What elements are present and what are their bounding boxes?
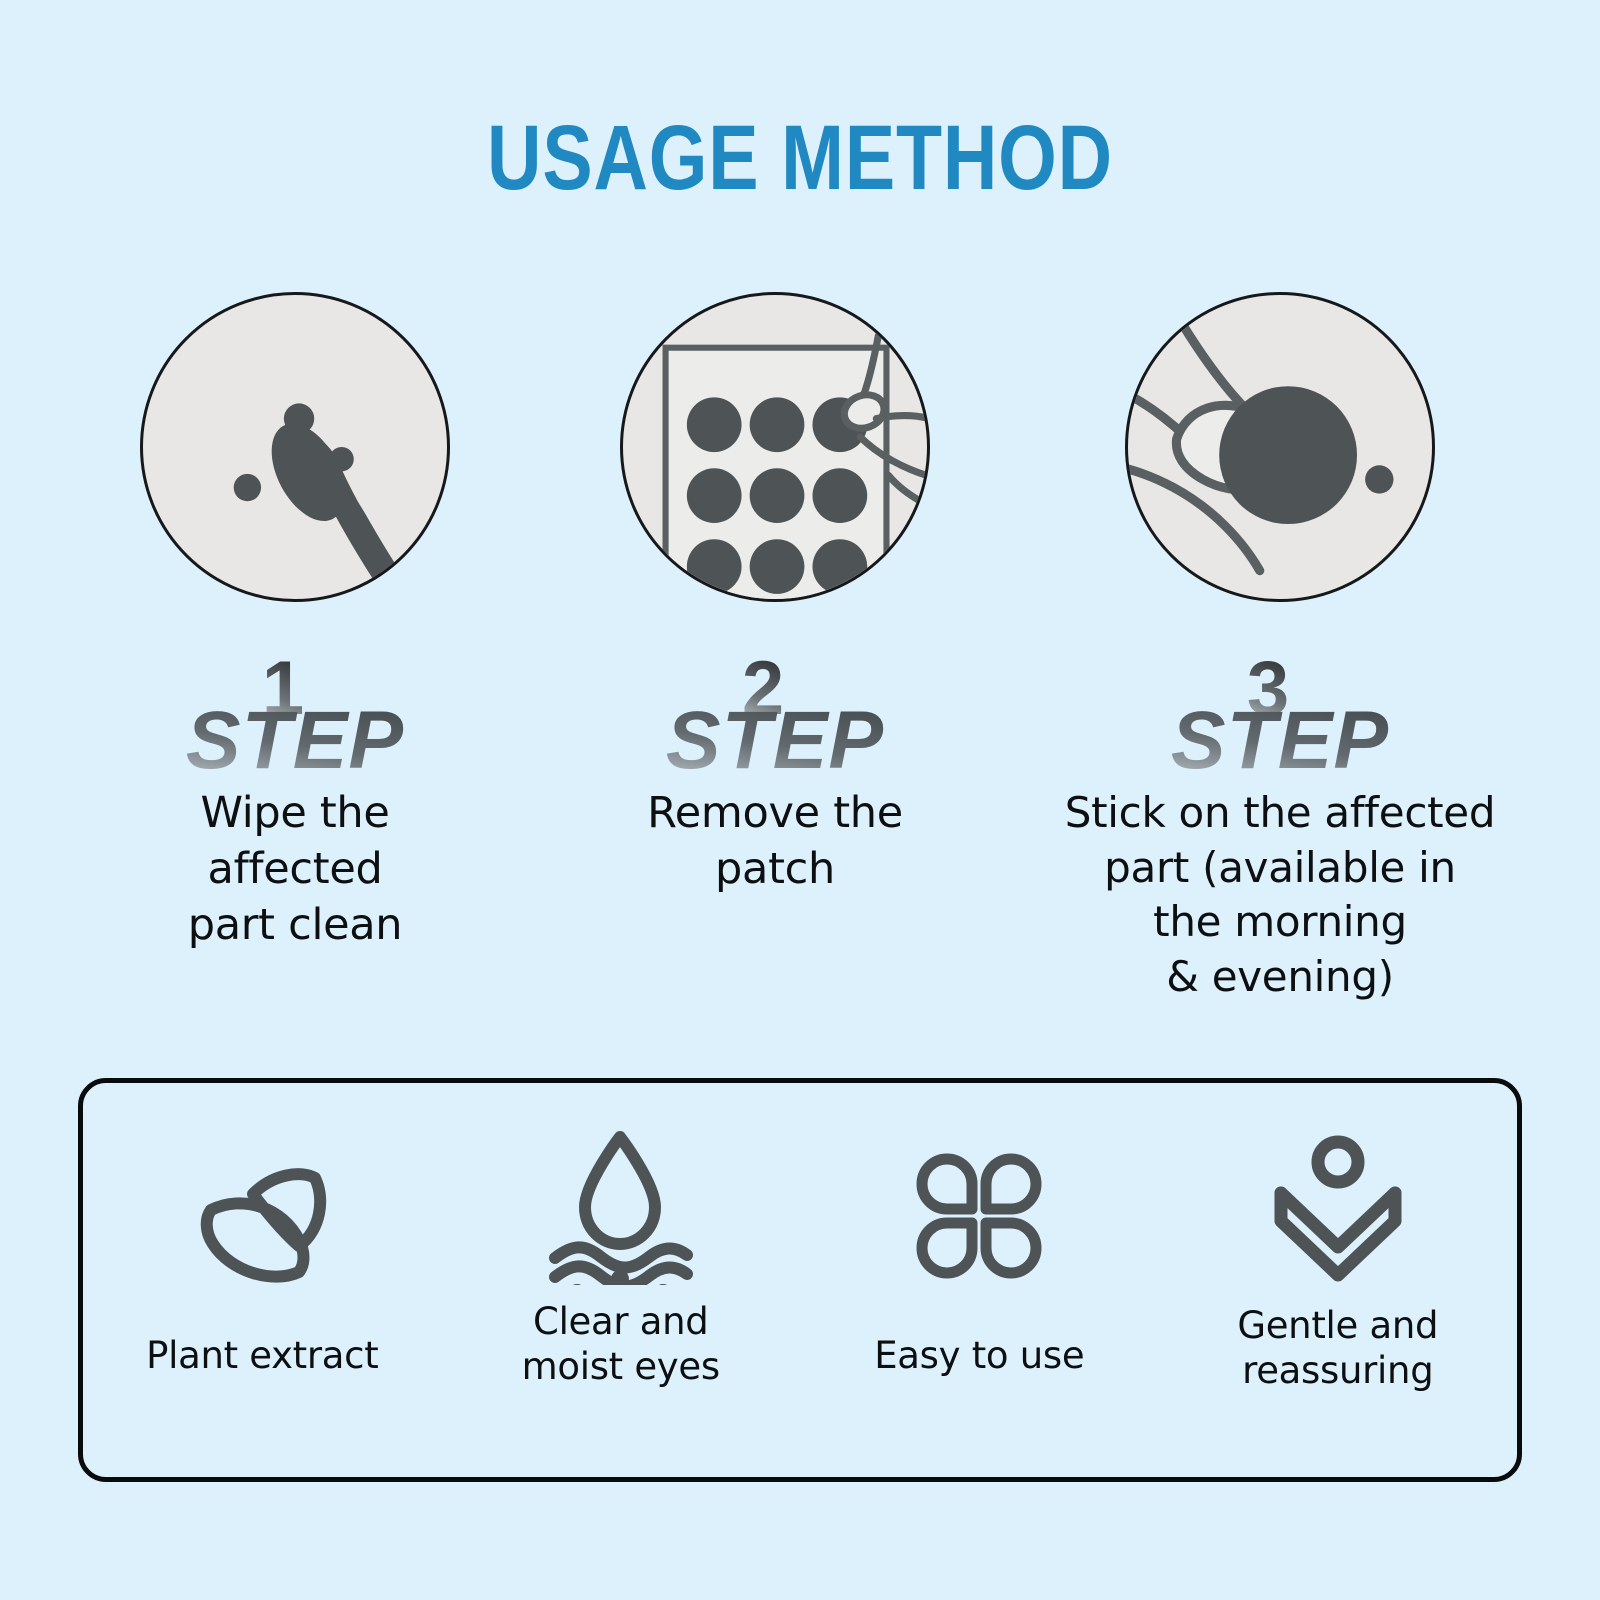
step-2-illustration [540, 292, 1010, 602]
feature-icon-wrap [187, 1135, 337, 1305]
feature-label: Gentle and reassuring [1237, 1303, 1438, 1393]
water-drop-waves-icon [543, 1127, 698, 1285]
four-petal-icon [909, 1146, 1049, 1286]
step-3-wordmark: 3 STEP [1020, 650, 1540, 780]
feature-icon-wrap [1263, 1125, 1413, 1295]
steps-row: 1 STEP Wipe the affected part clean [0, 292, 1600, 1004]
patch-sheet-peel-icon [623, 295, 927, 599]
step-3-illustration [1020, 292, 1540, 602]
infographic-page: USAGE METHOD [0, 0, 1600, 1600]
step-2-circle [620, 292, 930, 602]
feature-item-clear-moist-eyes: Clear and moist eyes [442, 1083, 801, 1389]
step-word: STEP [186, 695, 404, 780]
step-1-wordmark: 1 STEP [60, 650, 530, 780]
feature-item-gentle-reassuring: Gentle and reassuring [1159, 1083, 1518, 1393]
feature-label: Easy to use [874, 1333, 1084, 1378]
leaf-icon [187, 1154, 337, 1286]
feature-label: Plant extract [146, 1333, 378, 1378]
step-1-illustration [60, 292, 530, 602]
step-1-caption: Wipe the affected part clean [60, 786, 530, 954]
feature-icon-wrap [909, 1131, 1049, 1301]
feature-icon-wrap [543, 1121, 698, 1291]
feature-item-plant-extract: Plant extract [83, 1083, 442, 1378]
step-word: STEP [1171, 695, 1389, 780]
feature-item-easy-to-use: Easy to use [800, 1083, 1159, 1378]
person-heart-icon [1263, 1135, 1413, 1285]
step-2-caption: Remove the patch [540, 786, 1010, 898]
step-word: STEP [666, 695, 884, 780]
features-box: Plant extract Clear and moist eyes [78, 1078, 1522, 1482]
step-2-wordmark: 2 STEP [540, 650, 1010, 780]
step-1-circle [140, 292, 450, 602]
feature-label: Clear and moist eyes [522, 1299, 720, 1389]
step-3-circle [1125, 292, 1435, 602]
step-3-caption: Stick on the affected part (available in… [1020, 786, 1540, 1004]
step-item-1: 1 STEP Wipe the affected part clean [60, 292, 530, 1004]
step-item-3: 3 STEP Stick on the affected part (avail… [1020, 292, 1540, 1004]
cotton-swab-wiping-icon [143, 295, 447, 599]
step-item-2: 2 STEP Remove the patch [540, 292, 1010, 1004]
page-title: USAGE METHOD [144, 112, 1456, 204]
apply-patch-to-skin-icon [1128, 295, 1432, 599]
